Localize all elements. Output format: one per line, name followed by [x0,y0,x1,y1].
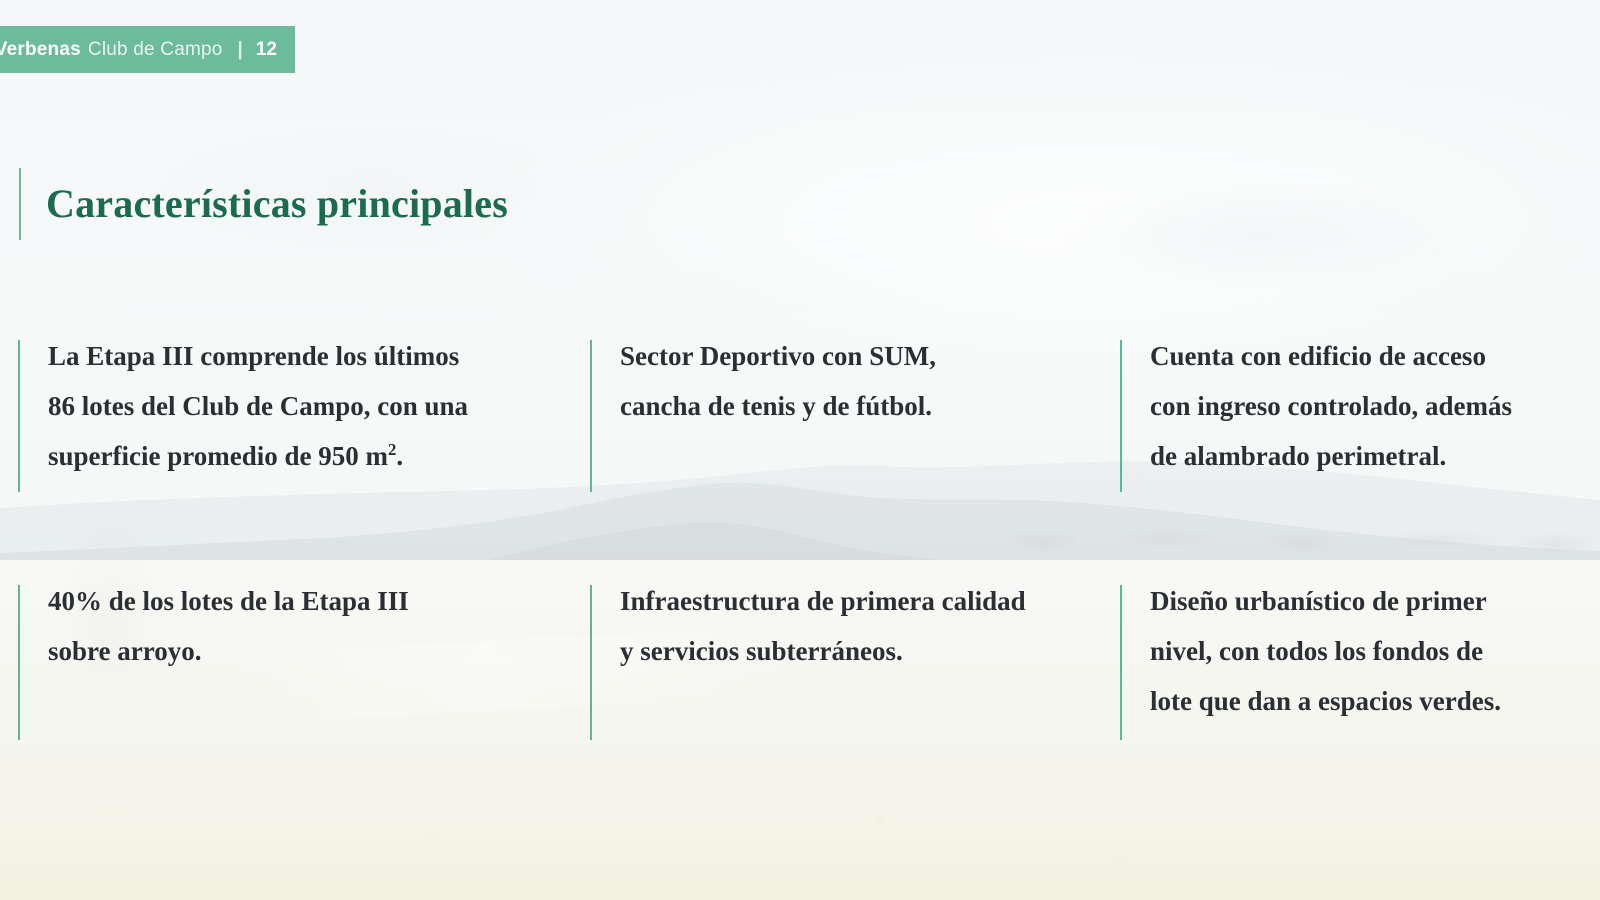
feature-accent-bar [1120,585,1122,740]
feature-item-lotes-sobre-arroyo: 40% de los lotes de la Etapa IIIsobre ar… [18,585,590,760]
header-badge: Verbenas Club de Campo | 12 [0,26,295,73]
feature-row-bottom: 40% de los lotes de la Etapa IIIsobre ar… [18,585,1578,760]
feature-accent-bar [590,585,592,740]
feature-item-sector-deportivo: Sector Deportivo con SUM,cancha de tenis… [590,340,1120,585]
title-accent-bar [19,168,21,240]
feature-text: Sector Deportivo con SUM,cancha de tenis… [620,331,936,585]
brand-name: Verbenas [0,39,81,61]
page-title: Características principales [46,184,508,224]
feature-accent-bar [18,340,20,492]
slide-title: Características principales [19,168,508,240]
feature-text: La Etapa III comprende los últimos86 lot… [48,331,468,585]
feature-item-edificio-acceso: Cuenta con edificio de accesocon ingreso… [1120,340,1578,585]
feature-text: Cuenta con edificio de accesocon ingreso… [1150,331,1512,585]
feature-accent-bar [18,585,20,740]
feature-item-etapa-iii-lotes: La Etapa III comprende los últimos86 lot… [18,340,590,585]
brand-subtitle: Club de Campo [88,39,223,61]
feature-accent-bar [1120,340,1122,492]
badge-separator: | [238,39,243,61]
page-number: 12 [256,39,277,61]
features-grid: La Etapa III comprende los últimos86 lot… [18,340,1578,760]
feature-text: 40% de los lotes de la Etapa IIIsobre ar… [48,576,409,760]
feature-accent-bar [590,340,592,492]
feature-text: Diseño urbanístico de primernivel, con t… [1150,576,1501,760]
feature-item-diseno-urbanistico: Diseño urbanístico de primernivel, con t… [1120,585,1578,760]
feature-text: Infraestructura de primera calidady serv… [620,576,1026,760]
feature-item-infraestructura: Infraestructura de primera calidady serv… [590,585,1120,760]
feature-row-top: La Etapa III comprende los últimos86 lot… [18,340,1578,585]
